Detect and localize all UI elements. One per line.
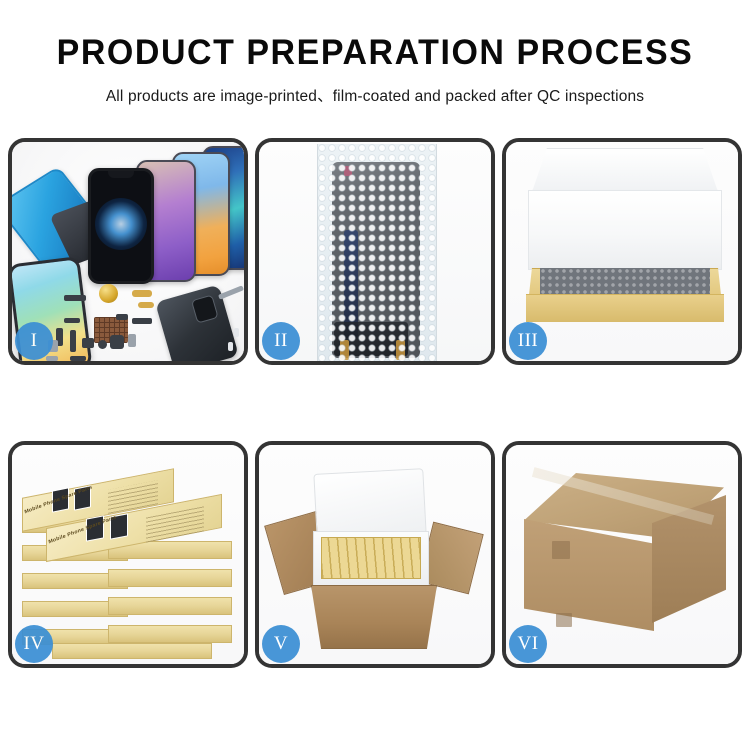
step-image-5: V [259,445,491,664]
small-part [46,356,58,361]
step-image-4: Mobile Phone Spare Parts Mobile Phone Sp… [12,445,244,664]
box-lid [532,148,718,192]
step-badge-3: III [509,322,547,360]
brown-carton [311,585,437,649]
bubble-texture [318,144,436,361]
page-header: PRODUCT PREPARATION PROCESS All products… [0,0,750,106]
small-part [98,340,107,349]
step-badge-1: I [15,322,53,360]
page-subtitle: All products are image-printed、film-coat… [0,84,750,106]
small-part [82,338,94,348]
step-image-3: III [506,142,738,361]
carton-seal-mark [556,613,572,627]
small-part [64,318,80,323]
small-part [70,356,86,361]
process-steps-grid: I II [8,138,742,668]
step-panel-5: V [255,441,495,668]
golden-boxes-inside [321,537,421,579]
tray-front-wall [526,294,724,322]
box-side [52,643,212,659]
step-panel-6: VI [502,441,742,668]
foam-lid [313,468,426,540]
step-badge-2: II [262,322,300,360]
step-badge-5: V [262,625,300,663]
step-badge-4: IV [15,625,53,663]
carton-seal-mark [552,541,570,559]
tweezer-part [218,285,244,299]
page-title: PRODUCT PREPARATION PROCESS [11,33,739,73]
box-side [108,597,232,615]
small-part [138,302,154,308]
box-side [108,569,232,587]
grey-foam-padding [540,268,710,294]
screw-part [228,342,233,351]
small-part [132,290,152,297]
step-panel-1: I [8,138,248,365]
step-image-1: I [12,142,244,361]
small-part [132,318,152,324]
step-panel-3: III [502,138,742,365]
step-image-2: II [259,142,491,361]
carton-left-face [524,519,654,631]
box-side [108,625,232,643]
small-part [116,314,128,320]
screw-part [234,328,239,337]
small-part [128,334,136,347]
product-preparation-page: PRODUCT PREPARATION PROCESS All products… [0,0,750,750]
step-panel-2: II [255,138,495,365]
step-image-6: VI [506,445,738,664]
small-part [64,295,86,301]
bubble-wrap-bag [317,144,437,361]
step-badge-6: VI [509,625,547,663]
white-foam-sheet [528,190,722,270]
small-part [70,330,76,352]
gold-coil-part [99,284,118,303]
step-panel-4: Mobile Phone Spare Parts Mobile Phone Sp… [8,441,248,668]
small-part [110,335,124,349]
phone-black-display [88,168,154,284]
